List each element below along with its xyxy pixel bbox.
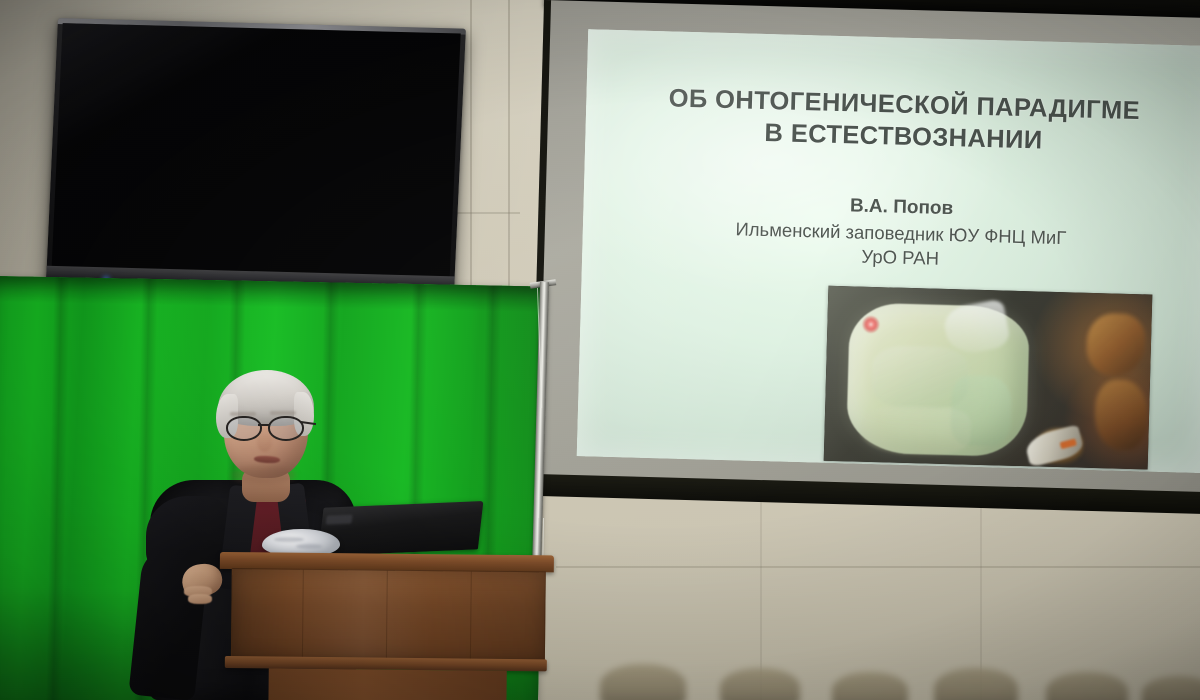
bundle-crease	[274, 537, 304, 542]
laptop-lid	[318, 501, 483, 556]
crystal-facet	[860, 405, 971, 456]
podium-panel-seam	[386, 571, 388, 659]
speaker-chin-shadow	[232, 466, 296, 484]
speaker-finger	[188, 594, 212, 604]
slide-crystal-photo	[824, 286, 1153, 470]
audience-head	[720, 668, 800, 700]
podium-panel-seam	[470, 572, 472, 660]
speaker-eyebrow	[270, 411, 296, 415]
audience-head	[832, 672, 908, 700]
eyeglass-bridge	[258, 424, 270, 426]
wall-seam	[470, 0, 472, 300]
eyeglass-lens	[268, 416, 304, 441]
tv-screen	[52, 23, 461, 277]
wall-seam	[556, 566, 1200, 568]
bundle-crease	[296, 544, 322, 549]
projected-slide: ОБ ОНТОГЕНИЧЕСКОЙ ПАРАДИГМЕ В ЕСТЕСТВОЗН…	[577, 29, 1200, 473]
wall-mounted-television: SAMSUNG	[46, 18, 466, 300]
podium-panel-seam	[302, 570, 304, 658]
slide-title: ОБ ОНТОГЕНИЧЕСКОЙ ПАРАДИГМЕ В ЕСТЕСТВОЗН…	[613, 82, 1194, 161]
photo-rock	[1094, 379, 1148, 450]
speaker-nose	[257, 432, 272, 452]
wooden-podium	[226, 552, 546, 700]
podium-front-panel	[231, 568, 546, 661]
laptop-on-podium[interactable]	[318, 501, 483, 556]
wall-seam	[508, 0, 510, 290]
audience-head	[600, 664, 686, 700]
laptop-hinge	[326, 515, 353, 525]
presentation-photo: ОБ ОНТОГЕНИЧЕСКОЙ ПАРАДИГМЕ В ЕСТЕСТВОЗН…	[0, 0, 1200, 700]
audience-head	[934, 668, 1018, 700]
podium-base	[268, 668, 506, 700]
projection-screen: ОБ ОНТОГЕНИЧЕСКОЙ ПАРАДИГМЕ В ЕСТЕСТВОЗН…	[530, 0, 1200, 544]
